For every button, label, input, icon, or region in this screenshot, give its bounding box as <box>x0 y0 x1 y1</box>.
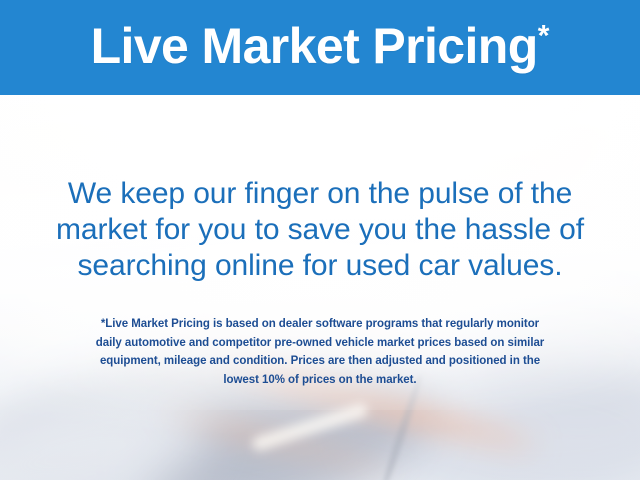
disclaimer-line-4: lowest 10% of prices on the market. <box>0 371 640 390</box>
disclaimer-line-1: *Live Market Pricing is based on dealer … <box>0 315 640 334</box>
headline: We keep our finger on the pulse of the m… <box>0 176 640 284</box>
page-title-footnote-marker: * <box>538 19 550 52</box>
headline-line-3: searching online for used car values. <box>0 248 640 284</box>
header-band: Live Market Pricing* <box>0 0 640 95</box>
headline-line-1: We keep our finger on the pulse of the <box>0 176 640 212</box>
disclaimer-line-2: daily automotive and competitor pre-owne… <box>0 334 640 353</box>
live-market-pricing-banner: Live Market Pricing* We keep our finger … <box>0 0 640 480</box>
page-title-text: Live Market Pricing <box>91 18 538 74</box>
disclaimer-line-3: equipment, mileage and condition. Prices… <box>0 352 640 371</box>
disclaimer-text: *Live Market Pricing is based on dealer … <box>0 315 640 389</box>
page-title: Live Market Pricing* <box>91 21 550 74</box>
headline-line-2: market for you to save you the hassle of <box>0 212 640 248</box>
